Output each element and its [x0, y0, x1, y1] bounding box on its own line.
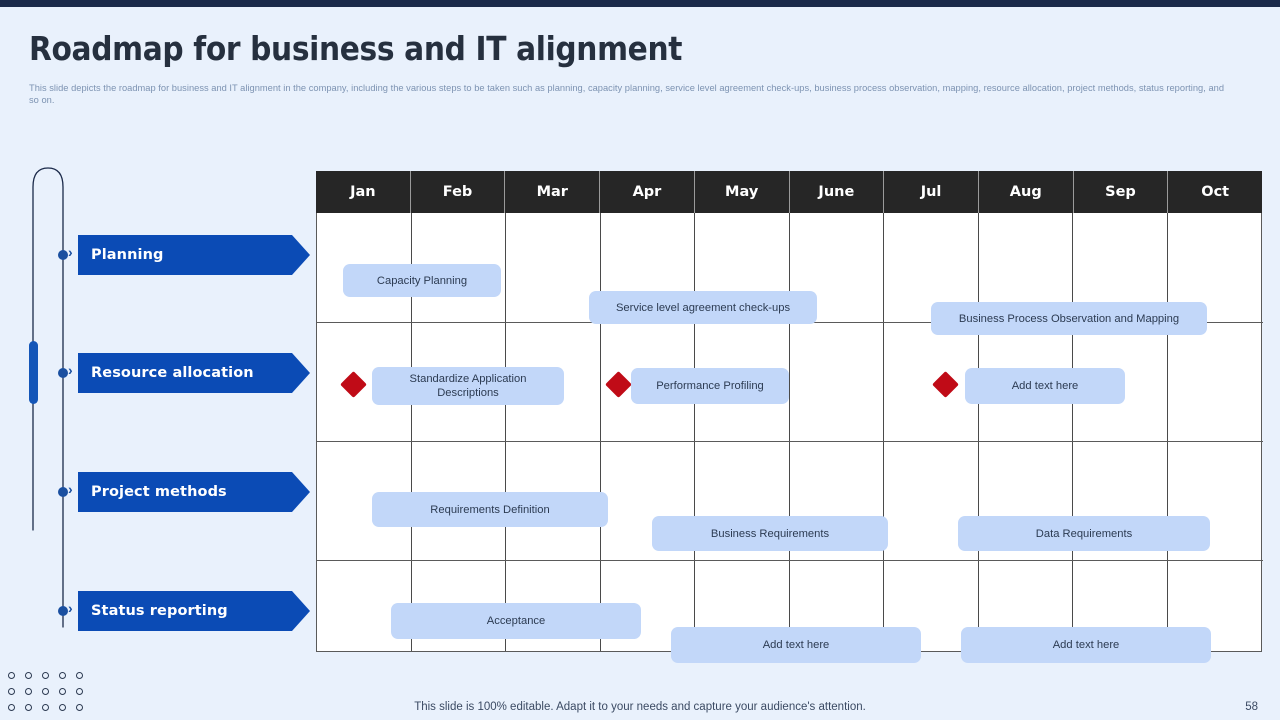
node-dot-icon — [58, 606, 68, 616]
gantt-row-divider — [317, 560, 1263, 561]
timeline-progress-indicator — [29, 341, 38, 404]
task-bar[interactable]: Capacity Planning — [343, 264, 501, 297]
task-bar[interactable]: Add text here — [961, 627, 1211, 663]
task-bar[interactable]: Standardize Application Descriptions — [372, 367, 564, 405]
month-header-jul[interactable]: Jul — [884, 171, 979, 213]
timeline-node-resource-allocation[interactable]: › — [58, 366, 80, 380]
gantt-month-header: Jan Feb Mar Apr May June Jul Aug Sep Oct — [316, 171, 1262, 213]
task-bar[interactable]: Add text here — [965, 368, 1125, 404]
gantt-body: Capacity Planning Service level agreemen… — [316, 213, 1262, 652]
month-header-sep[interactable]: Sep — [1074, 171, 1169, 213]
chevron-right-icon: › — [68, 482, 73, 496]
top-border-rule — [0, 0, 1280, 7]
page-number: 58 — [1245, 701, 1258, 713]
milestone-diamond-icon[interactable] — [340, 371, 367, 398]
gantt-chart: Jan Feb Mar Apr May June Jul Aug Sep Oct… — [316, 171, 1262, 652]
task-bar[interactable]: Add text here — [671, 627, 921, 663]
node-dot-icon — [58, 487, 68, 497]
month-header-apr[interactable]: Apr — [600, 171, 695, 213]
gantt-row-divider — [317, 441, 1263, 442]
node-dot-icon — [58, 368, 68, 378]
task-bar[interactable]: Service level agreement check-ups — [589, 291, 817, 324]
month-header-feb[interactable]: Feb — [411, 171, 506, 213]
milestone-diamond-icon[interactable] — [932, 371, 959, 398]
swimlane-label-project-methods[interactable]: Project methods — [78, 472, 310, 512]
swimlane-label-resource-allocation[interactable]: Resource allocation — [78, 353, 310, 393]
swimlane-label-status-reporting[interactable]: Status reporting — [78, 591, 310, 631]
chevron-right-icon: › — [68, 363, 73, 377]
task-bar[interactable]: Requirements Definition — [372, 492, 608, 527]
task-bar[interactable]: Business Process Observation and Mapping — [931, 302, 1207, 335]
milestone-diamond-icon[interactable] — [605, 371, 632, 398]
footer-note: This slide is 100% editable. Adapt it to… — [0, 701, 1280, 713]
chevron-right-icon: › — [68, 245, 73, 259]
timeline-node-project-methods[interactable]: › — [58, 485, 80, 499]
timeline-node-planning[interactable]: › — [58, 248, 80, 262]
swimlane-label-planning[interactable]: Planning — [78, 235, 310, 275]
month-header-oct[interactable]: Oct — [1168, 171, 1262, 213]
timeline-node-status-reporting[interactable]: › — [58, 604, 80, 618]
month-header-june[interactable]: June — [790, 171, 885, 213]
month-header-aug[interactable]: Aug — [979, 171, 1074, 213]
node-dot-icon — [58, 250, 68, 260]
month-header-mar[interactable]: Mar — [505, 171, 600, 213]
page-subtitle: This slide depicts the roadmap for busin… — [29, 83, 1229, 106]
page-title: Roadmap for business and IT alignment — [29, 29, 682, 68]
task-bar[interactable]: Acceptance — [391, 603, 641, 639]
task-bar[interactable]: Performance Profiling — [631, 368, 789, 404]
task-bar[interactable]: Business Requirements — [652, 516, 888, 551]
chevron-right-icon: › — [68, 601, 73, 615]
month-header-jan[interactable]: Jan — [316, 171, 411, 213]
month-header-may[interactable]: May — [695, 171, 790, 213]
task-bar[interactable]: Data Requirements — [958, 516, 1210, 551]
